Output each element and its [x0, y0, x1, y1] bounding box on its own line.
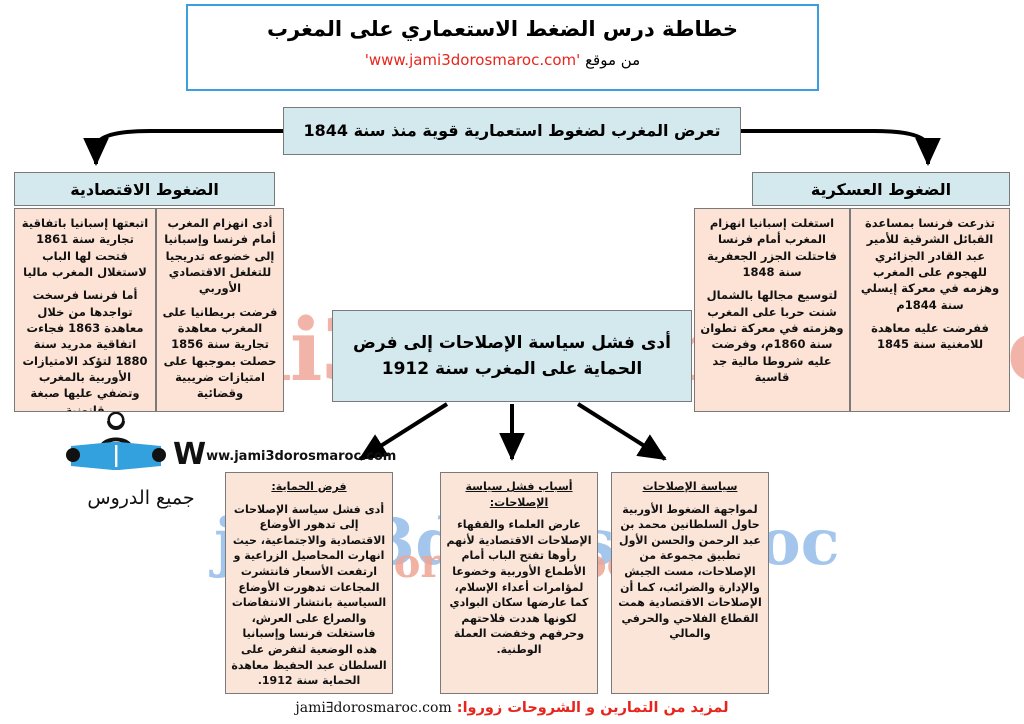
outcome-reform-policy: سياسة الإصلاحات لمواجهة الضغوط الأوربية …	[611, 472, 769, 694]
cell-paragraph: استغلت إسبانيا انهزام المغرب أمام فرنسا …	[700, 215, 844, 280]
diagram-canvas: jami3dorosmaroc.com jami3dorosmaroc jami…	[0, 0, 1024, 724]
economic-cell-spain-britain: أدى انهزام المغرب أمام فرنسا وإسبانيا إل…	[156, 208, 284, 412]
military-branch-header: الضغوط العسكرية	[752, 172, 1010, 206]
page-title-box: خطاطة درس الضغط الاستعماري على المغرب من…	[186, 4, 819, 91]
page-subtitle: من موقع 'www.jami3dorosmaroc.com'	[188, 51, 817, 69]
military-cell-spain-tetouan: استغلت إسبانيا انهزام المغرب أمام فرنسا …	[694, 208, 850, 412]
economic-branch-header: الضغوط الاقتصادية	[14, 172, 275, 206]
outcome-body: أدى فشل سياسة الإصلاحات إلى تدهور الأوضا…	[231, 502, 387, 689]
logo-url-text: Www.jami3dorosmaroc.com	[173, 449, 396, 464]
cell-paragraph: اتبعتها إسبانيا باتفاقية تجارية سنة 1861…	[20, 215, 150, 280]
cell-paragraph: ففرضت عليه معاهدة للامغنية سنة 1845	[856, 320, 1004, 353]
footer-bar: لمزيد من التمارين و الشروحات زوروا: jami…	[0, 700, 1024, 716]
economic-cell-france-madrid: اتبعتها إسبانيا باتفاقية تجارية سنة 1861…	[14, 208, 156, 412]
logo-url-rest: ww.jami3dorosmaroc.com	[206, 449, 396, 464]
site-logo[interactable]: Www.jami3dorosmaroc.com جميع الدروس	[55, 416, 355, 496]
outcome-protectorate: فرض الحماية: أدى فشل سياسة الإصلاحات إلى…	[225, 472, 393, 694]
logo-url-lead: W	[173, 437, 206, 472]
cell-paragraph: أدى انهزام المغرب أمام فرنسا وإسبانيا إل…	[162, 215, 278, 297]
outcome-heading: سياسة الإصلاحات	[617, 479, 763, 495]
cell-paragraph: لتوسيع مجالها بالشمال شنت حربا على المغر…	[700, 287, 844, 385]
outcome-heading: أسباب فشل سياسة الإصلاحات:	[446, 479, 592, 510]
cell-paragraph: فرضت بريطانيا على المغرب معاهدة تجارية س…	[162, 304, 278, 402]
center-node: أدى فشل سياسة الإصلاحات إلى فرض الحماية …	[332, 310, 692, 402]
subtitle-prefix: من موقع	[585, 51, 640, 69]
military-cell-france-isly: تذرعت فرنسا بمساعدة القبائل الشرقية للأم…	[850, 208, 1010, 412]
outcome-body: عارض العلماء والفقهاء الإصلاحات الاقتصاد…	[446, 517, 592, 657]
cell-paragraph: أما فرنسا فرسخت تواجدها من خلال معاهدة 1…	[20, 287, 150, 412]
root-node: تعرض المغرب لضغوط استعمارية قوية منذ سنة…	[283, 107, 741, 155]
footer-text: لمزيد من التمارين و الشروحات زوروا:	[457, 700, 729, 716]
logo-caption: جميع الدروس	[61, 487, 221, 509]
site-url-link[interactable]: 'www.jami3dorosmaroc.com'	[365, 51, 581, 69]
page-title: خطاطة درس الضغط الاستعماري على المغرب	[188, 17, 817, 41]
footer-site[interactable]: jami∃dorosmaroc.com	[295, 700, 451, 716]
cell-paragraph: تذرعت فرنسا بمساعدة القبائل الشرقية للأم…	[856, 215, 1004, 313]
outcome-reform-failure-causes: أسباب فشل سياسة الإصلاحات: عارض العلماء …	[440, 472, 598, 694]
outcome-body: لمواجهة الضغوط الأوربية حاول السلطانين م…	[617, 502, 763, 642]
reading-person-book-icon	[61, 412, 171, 480]
